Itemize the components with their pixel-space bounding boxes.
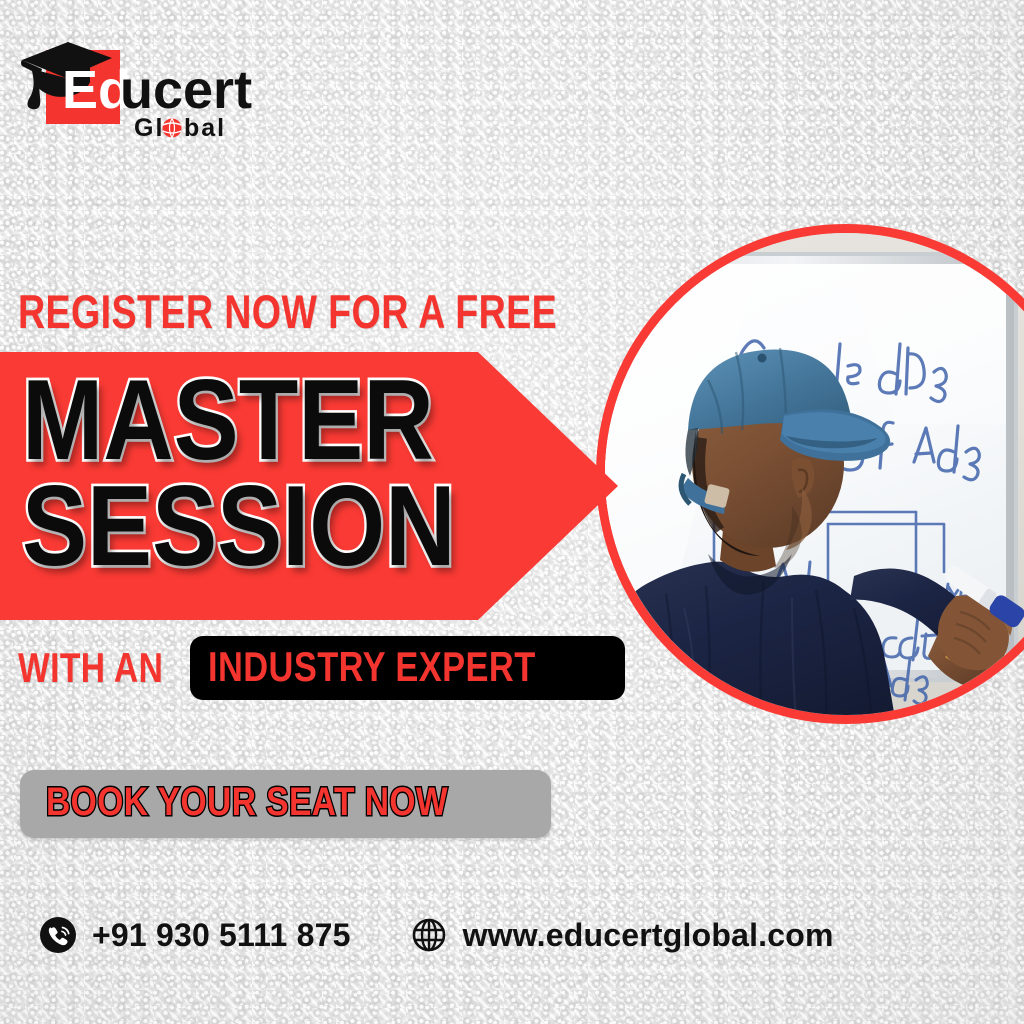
globe-icon-logo xyxy=(163,119,182,138)
logo-word-ucert: ucert xyxy=(120,60,252,120)
kicker-text: REGISTER NOW FOR A FREE xyxy=(18,288,557,335)
website-contact[interactable]: www.educertglobal.com xyxy=(409,915,834,955)
phone-number: +91 930 5111 875 xyxy=(92,917,351,954)
phone-contact[interactable]: +91 930 5111 875 xyxy=(38,915,351,955)
instructor-photo-circle xyxy=(596,224,1024,724)
industry-expert-label: INDUSTRY EXPERT xyxy=(208,643,536,691)
phone-icon xyxy=(38,915,78,955)
logo-sub-right: bal xyxy=(184,114,226,142)
educert-global-logo: Ed ucert Gl bal xyxy=(16,36,256,148)
book-seat-label: BOOK YOUR SEAT NOW xyxy=(46,780,448,825)
globe-icon xyxy=(409,915,449,955)
headline-line-1: MASTER xyxy=(22,368,434,473)
poster-canvas: Ed ucert Gl bal REGISTER NOW FOR A FREE … xyxy=(0,0,1024,1024)
brand-logo[interactable]: Ed ucert Gl bal xyxy=(16,36,256,148)
website-url: www.educertglobal.com xyxy=(463,917,834,954)
industry-expert-badge: INDUSTRY EXPERT xyxy=(190,636,626,700)
subline-prefix: WITH AN xyxy=(18,644,163,692)
book-seat-button[interactable]: BOOK YOUR SEAT NOW xyxy=(20,770,551,838)
contact-footer: +91 930 5111 875 www.educertglobal.com xyxy=(38,915,834,955)
photo-clip xyxy=(596,224,1024,724)
instructor-photo xyxy=(596,224,1024,724)
logo-sub-left: Gl xyxy=(134,114,164,142)
headline-line-2: SESSION xyxy=(22,474,456,579)
subline: WITH AN INDUSTRY EXPERT xyxy=(18,640,625,696)
